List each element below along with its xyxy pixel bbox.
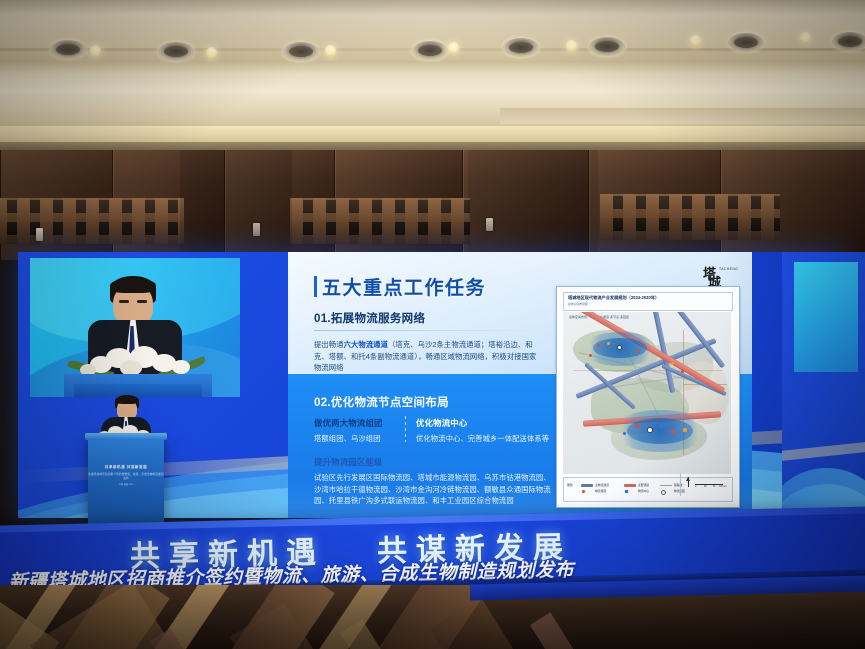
ceiling-downlight-icon [412, 41, 448, 60]
planning-map: 塔城地区现代物流产业发展规划（2024-2030年） 总体空间布局图 总体空间布… [556, 286, 740, 508]
ceiling-downlight-icon [589, 37, 625, 56]
legend-swatch-railway [660, 485, 672, 486]
slide-title-accent-bar [314, 276, 317, 297]
ceiling-spotlight-icon [566, 40, 577, 52]
section-01-text: 提出畅通六大物流通道（塔克、乌沙2条主物流通道；塔裕沿边、和克、塔额、和托4条副… [314, 339, 542, 374]
podium: 共享新机遇 共谋新发展 新疆塔城地区招商推介签约暨物流、旅游、合成生物制造规划发… [88, 437, 164, 532]
podium-line-3: 中国·塔城 2024 [88, 482, 164, 486]
map-node [635, 424, 639, 428]
section-02-col2: 优化物流中心 优化物流中心、完善城乡一体配送体系等 [416, 417, 556, 445]
scale-tick-1: 25 [704, 486, 707, 488]
map-node [659, 424, 663, 428]
section-01-rule [314, 330, 536, 331]
ceiling-downlight-icon [283, 42, 319, 61]
ceiling-downlight-icon [158, 42, 194, 61]
legend-dot-park [661, 490, 666, 495]
wall-lattice-screen [600, 194, 780, 240]
conference-hall-photo: 五大重点工作任务 塔 城 TACHENG 01.拓展物流服务网络 提出畅通六大物… [0, 0, 865, 649]
map-canvas: 总体空间布局：两组团·六通道·多节点·多园区 [563, 312, 731, 474]
side-panel-inset [794, 262, 858, 372]
legend-swatch-main-corridor [581, 484, 593, 487]
ceiling-spotlight-icon [800, 32, 811, 44]
slide-section-01: 01.拓展物流服务网络 [314, 310, 539, 326]
scale-tick-3: 100 km [719, 486, 727, 488]
ceiling-soffit-step [500, 108, 865, 124]
ceiling-downlight-icon [503, 38, 539, 57]
wall-shadow [468, 150, 598, 260]
scale-tick-0: 0 [695, 486, 696, 488]
ceiling-downlight-icon [50, 40, 86, 59]
section-02-col2-heading: 优化物流中心 [416, 417, 556, 429]
legend-label-center: 物流中心 [638, 489, 649, 493]
slide-title: 五大重点工作任务 [322, 273, 486, 300]
side-panel-band [782, 440, 865, 461]
legend-label-main-corridor: 主物流通道 [595, 483, 609, 487]
ceiling-spotlight-icon [90, 45, 101, 57]
ceiling-spotlight-icon [206, 47, 217, 59]
section-01-text-highlight: 六大物流通道 [344, 340, 388, 349]
ceiling-downlight-icon [832, 32, 865, 51]
slide-section-02: 02.优化物流节点空间布局 [314, 394, 564, 410]
map-subtitle: 总体空间布局图 [568, 302, 588, 306]
legend-label-cluster: 物流组团 [595, 489, 606, 493]
map-scale-box: 0 25 50 100 km [680, 473, 727, 496]
wall-shadow [180, 150, 292, 260]
map-title-box: 塔城地区现代物流产业发展规划（2024-2030年） 总体空间布局图 [563, 292, 733, 311]
section-02-col3-heading: 提升物流园区能级 [314, 456, 554, 468]
section-02-heading: 02.优化物流节点空间布局 [314, 394, 564, 410]
section-01-text-prefix: 提出畅通 [314, 340, 344, 349]
section-02-col2-body: 优化物流中心、完善城乡一体配送体系等 [416, 433, 556, 445]
map-title: 塔城地区现代物流产业发展规划（2024-2030年） [568, 295, 659, 301]
floor-sheen [0, 585, 865, 649]
legend-label-major-route: 主要通道 [638, 483, 649, 487]
presentation-slide: 五大重点工作任务 塔 城 TACHENG 01.拓展物流服务网络 提出畅通六大物… [288, 252, 752, 518]
podium-line-2: 新疆塔城地区招商推介签约暨物流、旅游、合成生物制造规划发布 [88, 472, 164, 480]
map-legend: 图例 主物流通道 主要通道 铁路线 物流组团 物流中心 物流园区 [563, 477, 733, 502]
section-02-col3: 提升物流园区能级 试验区先行发展区国际物流园、塔城市能源物流园、乌苏市钴港物流园… [314, 456, 554, 507]
map-node [671, 430, 675, 434]
side-led-panel [782, 252, 865, 518]
wall-switch[interactable] [36, 228, 43, 241]
legend-swatch-major-route [624, 484, 636, 487]
ceiling-shadow [0, 0, 865, 14]
back-wall [0, 150, 865, 260]
ceiling-downlight-icon [728, 33, 764, 52]
wall-lattice-screen [290, 198, 470, 244]
map-node [683, 428, 687, 432]
slide-section-01-body: 提出畅通六大物流通道（塔克、乌沙2条主物流通道；塔裕沿边、和克、塔额、和托4条副… [314, 339, 542, 374]
section-02-col1: 做优两大物流组团 塔额组团、乌沙组团 [314, 417, 396, 445]
section-02-col1-body: 塔额组团、乌沙组团 [314, 433, 396, 445]
section-02-col1-heading: 做优两大物流组团 [314, 417, 396, 429]
stage-floor [0, 585, 865, 649]
legend-dot-center [625, 490, 628, 493]
compass-icon [685, 477, 692, 491]
speaker-camera-feed [30, 258, 240, 397]
section-01-heading: 01.拓展物流服务网络 [314, 310, 539, 326]
ceiling-spotlight-icon [325, 45, 336, 57]
legend-dot-cluster [582, 490, 585, 493]
podium-line-1: 共享新机遇 共谋新发展 [88, 465, 164, 470]
ceiling-spotlight-icon [448, 42, 459, 54]
ceiling-spotlight-icon [690, 35, 701, 47]
scale-tick-2: 50 [713, 486, 716, 488]
logo-latin-text: TACHENG [719, 267, 738, 271]
section-02-divider [405, 416, 406, 442]
podium-top-edge [85, 433, 167, 440]
wall-lattice-screen [0, 198, 184, 244]
legend-title: 图例 [567, 483, 573, 487]
map-node [647, 427, 653, 433]
section-02-col3-body: 试验区先行发展区国际物流园、塔城市能源物流园、乌苏市钴港物流园、沙湾市哈拉干德物… [314, 472, 554, 507]
